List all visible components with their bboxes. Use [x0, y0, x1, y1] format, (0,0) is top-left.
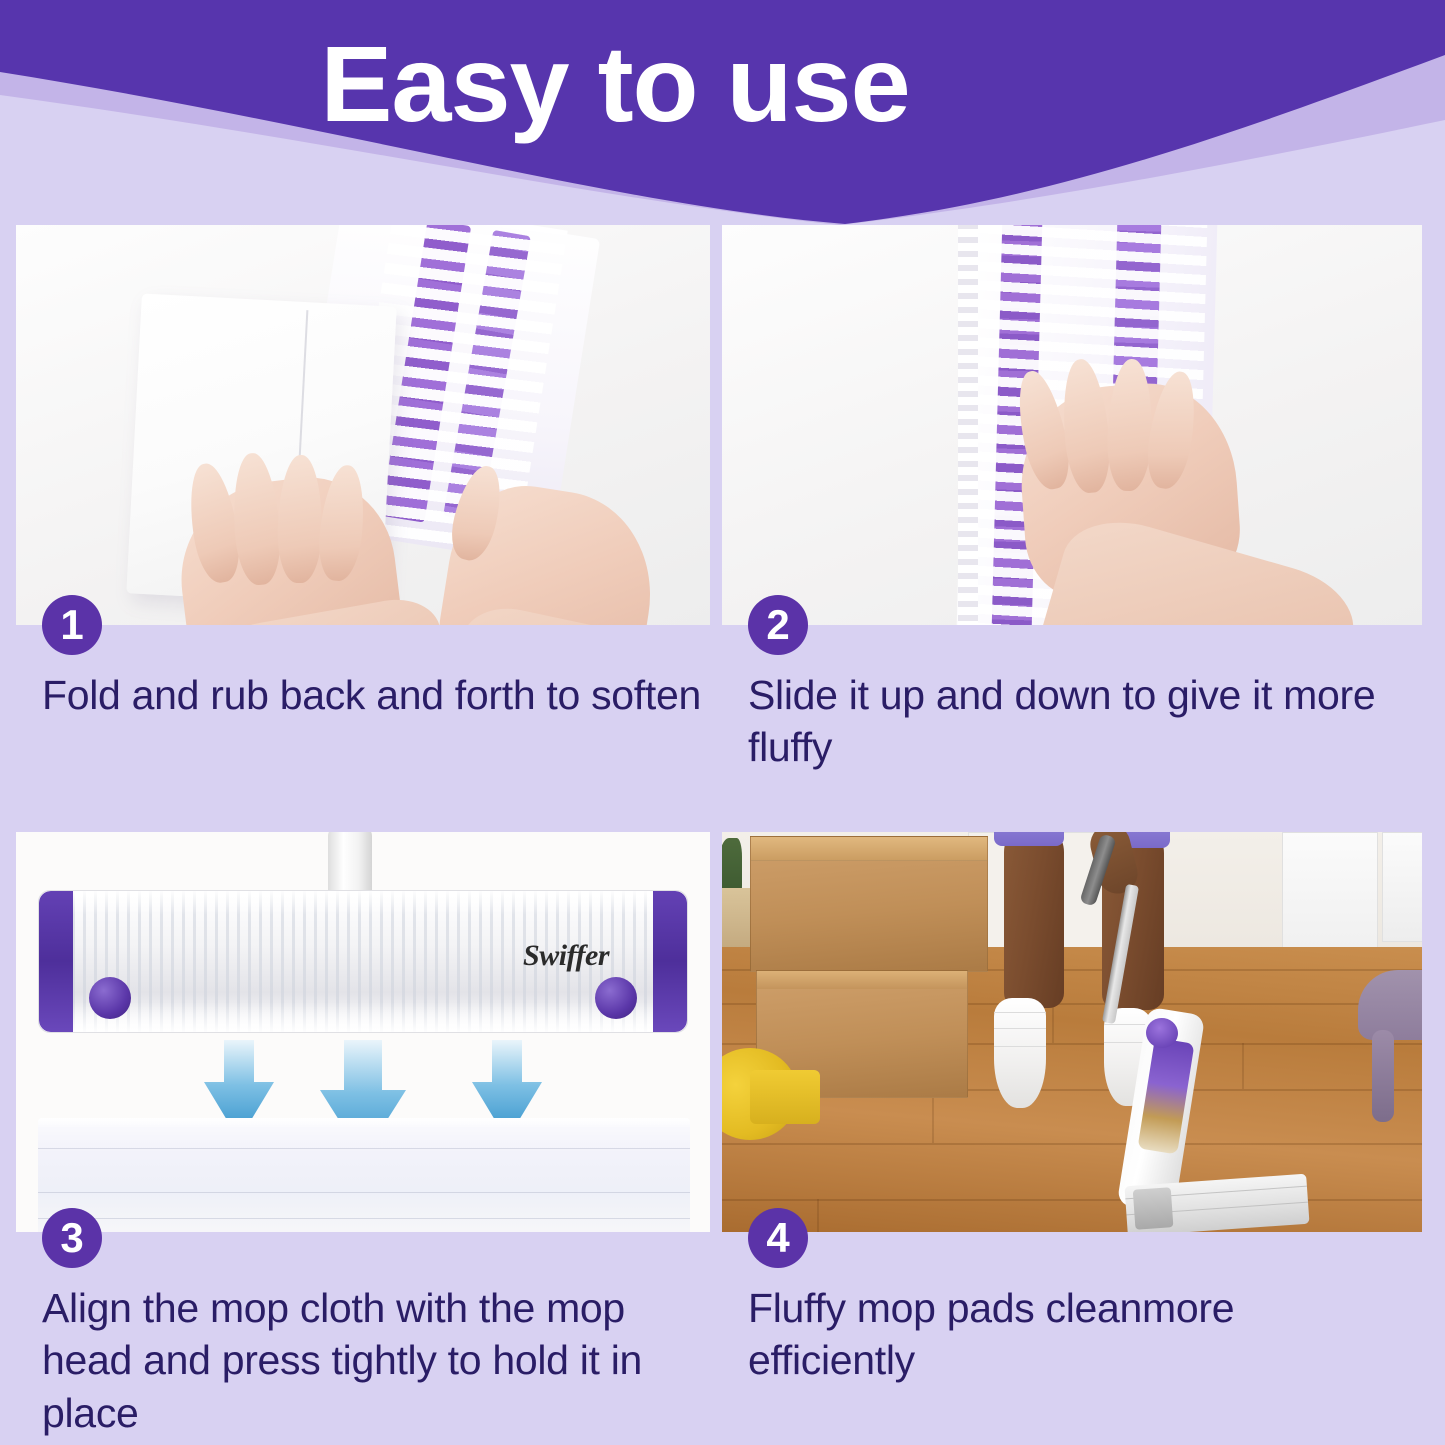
- header-banner: Easy to use: [0, 0, 1445, 240]
- step-4-photo: [722, 832, 1422, 1232]
- leg-left: [1004, 832, 1064, 1008]
- stool-leg-left: [1372, 1030, 1394, 1122]
- gripper-knob-left: [89, 977, 131, 1019]
- step-card-3: Swiffer: [16, 832, 710, 1442]
- step-card-4: 4 Fluffy mop pads cleanmore efficiently: [722, 832, 1422, 1442]
- sock-left: [994, 998, 1046, 1108]
- step-caption-3: Align the mop cloth with the mop head an…: [42, 1282, 702, 1439]
- yoga-mat-body: [750, 1070, 820, 1124]
- step-3-caption-block: 3 Align the mop cloth with the mop head …: [42, 1208, 702, 1439]
- step-card-2: 2 Slide it up and down to give it more f…: [722, 225, 1422, 785]
- step-3-photo: Swiffer: [16, 832, 710, 1232]
- cardboard-box-upper: [750, 836, 988, 972]
- step-1-photo: [16, 225, 710, 625]
- shorts-left: [994, 832, 1064, 846]
- room-scene: [722, 832, 1422, 1232]
- step-badge-1: 1: [42, 595, 102, 655]
- infographic-page: Easy to use: [0, 0, 1445, 1445]
- step-4-caption-block: 4 Fluffy mop pads cleanmore efficiently: [748, 1208, 1408, 1387]
- window-frame: [1382, 832, 1422, 942]
- step-2-photo: [722, 225, 1422, 625]
- step-caption-4: Fluffy mop pads cleanmore efficiently: [748, 1282, 1408, 1387]
- gripper-knob-right: [595, 977, 637, 1019]
- mop-end-cap-left: [39, 891, 73, 1032]
- step-badge-4: 4: [748, 1208, 808, 1268]
- mop-head-body: Swiffer: [38, 890, 688, 1033]
- step-card-1: 1 Fold and rub back and forth to soften: [16, 225, 710, 785]
- step-badge-3: 3: [42, 1208, 102, 1268]
- step-caption-2: Slide it up and down to give it more flu…: [748, 669, 1408, 774]
- step-badge-2: 2: [748, 595, 808, 655]
- step-2-caption-block: 2 Slide it up and down to give it more f…: [748, 595, 1408, 774]
- step-caption-1: Fold and rub back and forth to soften: [42, 669, 701, 721]
- mop-end-cap-right: [653, 891, 687, 1032]
- pad-edge-ruffle: [958, 225, 978, 625]
- page-title: Easy to use: [0, 22, 1230, 146]
- swiffer-logo: Swiffer: [523, 939, 609, 973]
- step-1-caption-block: 1 Fold and rub back and forth to soften: [42, 595, 701, 721]
